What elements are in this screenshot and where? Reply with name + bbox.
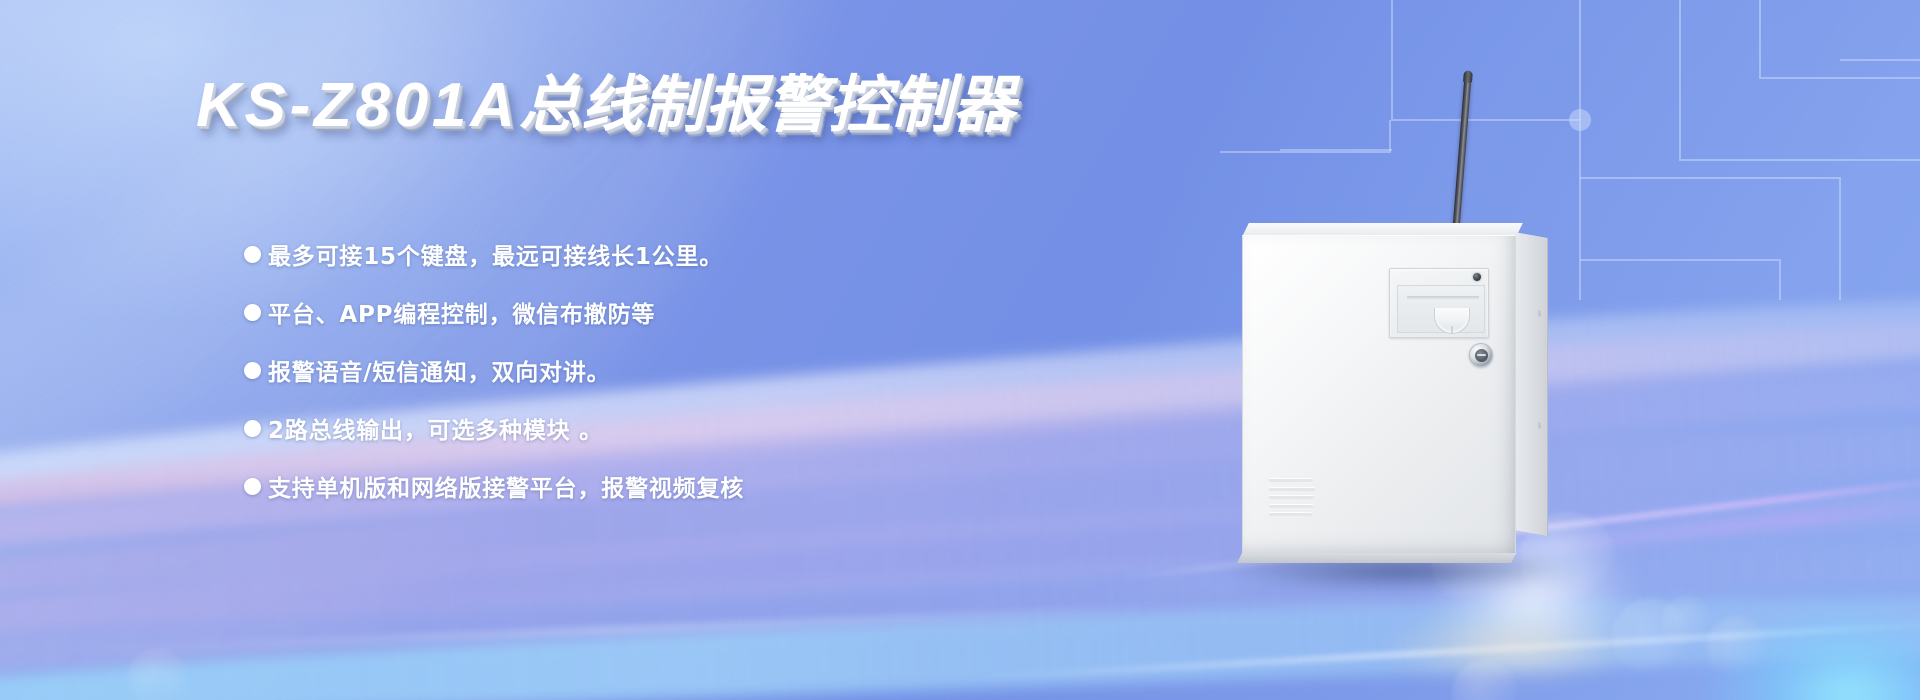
light-streak-4 — [60, 607, 1159, 653]
enclosure-bottom-lip — [1237, 553, 1516, 563]
recess-slot — [1407, 296, 1479, 300]
feature-text: 支持单机版和网络版接警平台，报警视频复核 — [268, 469, 744, 503]
feature-item: 2路总线输出，可选多种模块 。 — [244, 406, 744, 450]
vent-slot — [1269, 504, 1313, 508]
feature-text: 平台、APP编程控制，微信布撤防等 — [268, 295, 655, 329]
bullet-dot-icon — [244, 362, 261, 379]
bokeh-circle-7 — [128, 648, 188, 700]
title-name: 总线制报警控制器 — [519, 68, 1015, 141]
door-handle-icon — [1434, 308, 1470, 334]
feature-item: 最多可接15个键盘，最远可接线长1公里。 — [244, 232, 744, 276]
product-label: 总线制报警控制器主机 — [1180, 60, 1181, 61]
feature-text: 2路总线输出，可选多种模块 。 — [268, 411, 603, 445]
ventilation-slots-icon — [1269, 478, 1315, 516]
title-model: KS-Z801A — [196, 71, 519, 140]
bullet-dot-icon — [244, 246, 261, 263]
vent-slot — [1269, 487, 1315, 491]
feature-item: 支持单机版和网络版接警平台，报警视频复核 — [244, 464, 744, 508]
side-seam-2 — [1538, 422, 1541, 429]
feature-text: 最多可接15个键盘，最远可接线长1公里。 — [268, 237, 723, 271]
lock-core — [1475, 349, 1488, 362]
status-led-icon — [1473, 273, 1481, 281]
side-seam-1 — [1538, 310, 1541, 317]
key-lock-icon — [1469, 343, 1493, 367]
feature-list: 最多可接15个键盘，最远可接线长1公里。 平台、APP编程控制，微信布撤防等 报… — [244, 232, 744, 522]
bullet-dot-icon — [244, 478, 261, 495]
feature-item: 报警语音/短信通知，双向对讲。 — [244, 348, 744, 392]
vent-slot — [1269, 495, 1314, 499]
product-image-alarm-control-panel: 总线制报警控制器主机 — [1180, 60, 1640, 700]
enclosure-front-face — [1242, 235, 1516, 555]
banner-title: KS-Z801A总线制报警控制器 — [196, 74, 1015, 137]
bokeh-circle-4 — [1662, 596, 1712, 646]
recess-inner — [1397, 285, 1485, 333]
bokeh-circle-3 — [1706, 616, 1768, 678]
feature-text: 报警语音/短信通知，双向对讲。 — [268, 353, 610, 387]
glow-cyan — [1700, 600, 1920, 700]
bullet-dot-icon — [244, 304, 261, 321]
feature-item: 平台、APP编程控制，微信布撤防等 — [244, 290, 744, 334]
bullet-dot-icon — [244, 420, 261, 437]
enclosure-side-face — [1514, 232, 1548, 536]
keypad-recess-panel — [1389, 268, 1489, 338]
product-promo-banner: KS-Z801A总线制报警控制器 最多可接15个键盘，最远可接线长1公里。 平台… — [0, 0, 1920, 700]
vent-slot — [1269, 512, 1312, 516]
vent-slot — [1269, 478, 1313, 482]
